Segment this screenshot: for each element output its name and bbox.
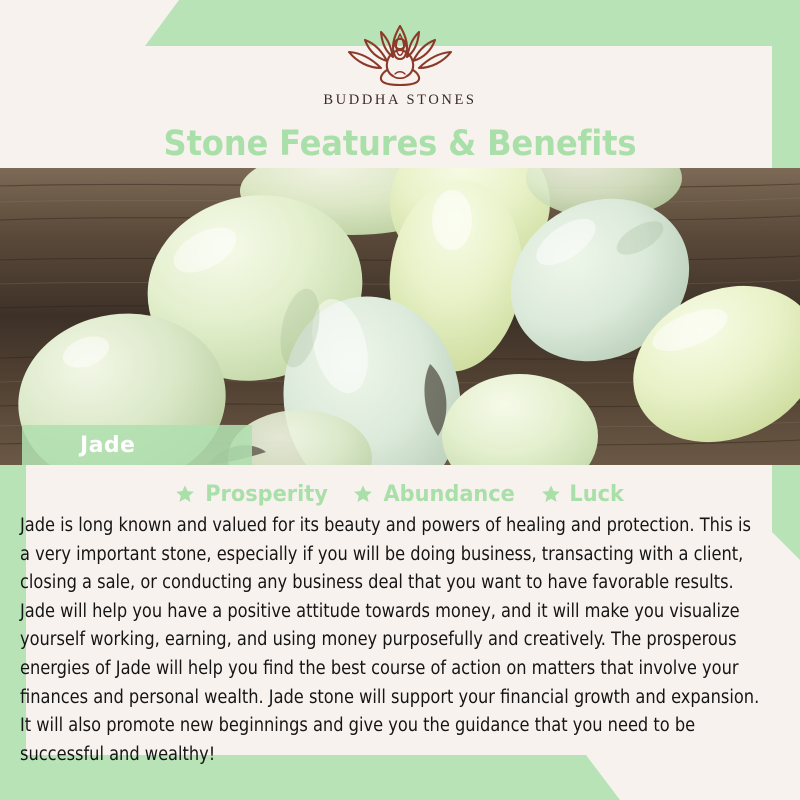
star-icon [175,484,195,504]
stone-photo-illustration [0,168,800,465]
photo-caption-label: Jade [80,433,135,458]
title-bar: Stone Features & Benefits [0,120,800,168]
star-icon [353,484,373,504]
benefit-item-prosperity: Prosperity [175,482,331,507]
benefit-label: Prosperity [205,482,328,507]
photo-caption-banner: Jade [22,425,252,465]
infographic-card: BUDDHA STONES Stone Features & Benefits [0,0,800,800]
page-title: Stone Features & Benefits [164,124,637,164]
stone-photo [0,168,800,465]
benefit-item-abundance: Abundance [353,482,518,507]
benefits-row: Prosperity Abundance Luck [0,478,800,510]
benefit-label: Abundance [384,482,515,507]
description-paragraph: Jade is long known and valued for its be… [20,512,761,769]
star-icon [541,484,561,504]
lotus-meditation-icon [325,18,475,88]
benefit-label: Luck [569,482,623,507]
benefit-item-luck: Luck [541,482,625,507]
brand-name: BUDDHA STONES [323,92,476,109]
